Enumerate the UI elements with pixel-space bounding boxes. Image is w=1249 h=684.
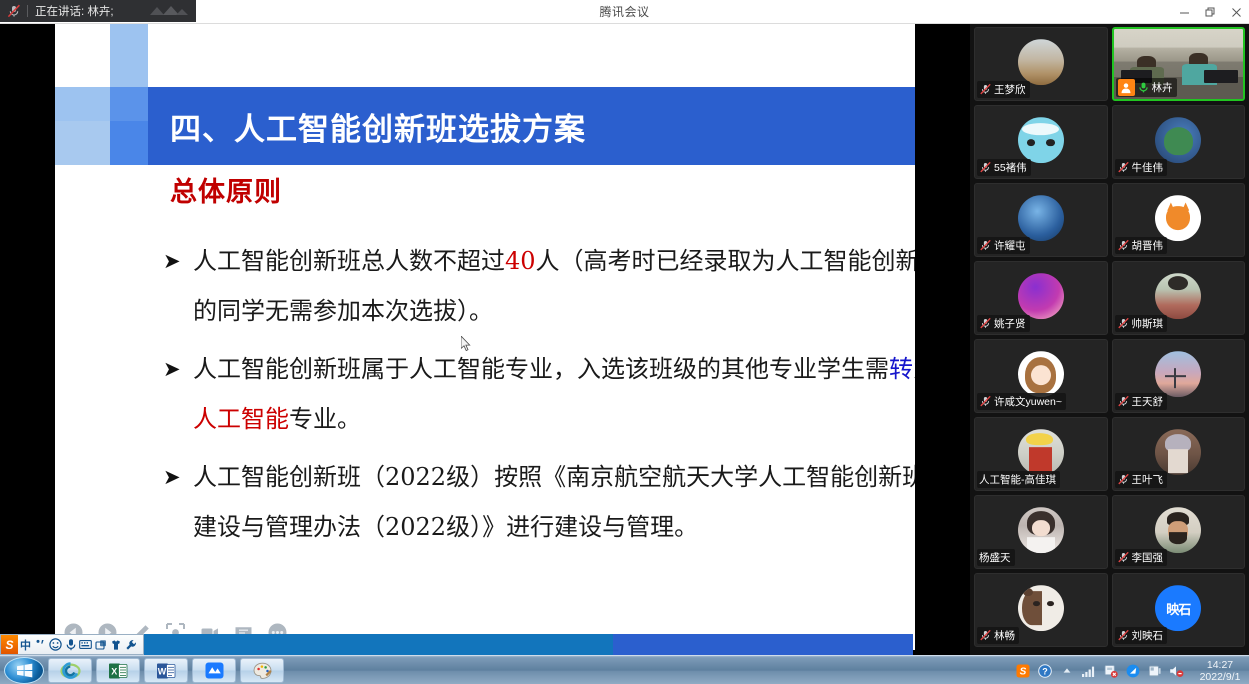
participant-name: 杨盛天	[979, 550, 1011, 565]
ime-skin-button[interactable]	[108, 635, 123, 654]
window-controls	[1171, 0, 1249, 24]
slide-bullet: ➤人工智能创新班（2022级）按照《南京航空航天大学人工智能创新班建设与管理办法…	[155, 452, 915, 552]
participant-name: 许耀屯	[994, 238, 1026, 253]
tray-messenger-icon[interactable]	[1125, 663, 1140, 678]
tray-show-hidden-icons[interactable]	[1059, 663, 1074, 678]
participant-tile[interactable]: 王叶飞	[1112, 417, 1246, 491]
ime-emoji-button[interactable]	[48, 635, 63, 654]
slide-decoration-block	[110, 121, 148, 165]
bullet-marker-icon: ➤	[163, 452, 181, 502]
mic-muted-icon	[979, 317, 992, 330]
participant-nameplate: 王天舒	[1115, 393, 1168, 410]
avatar: 映石	[1155, 585, 1201, 631]
taskbar-item-tencent-meeting[interactable]	[192, 658, 236, 683]
powerpoint-status-strip-secondary	[613, 634, 913, 655]
slide-bullet: ➤人工智能创新班总人数不超过40人（高考时已经录取为人工智能创新班的同学无需参加…	[155, 236, 915, 336]
ime-logo-icon[interactable]: S	[1, 635, 18, 654]
participant-nameplate: 林畅	[977, 627, 1019, 644]
slide-bullet-list: ➤人工智能创新班总人数不超过40人（高考时已经录取为人工智能创新班的同学无需参加…	[155, 236, 915, 560]
ime-toolbox-button[interactable]	[123, 635, 138, 654]
taskbar-clock[interactable]: 14:27 2022/9/1	[1195, 659, 1245, 683]
participant-tile[interactable]: 牛佳伟	[1112, 105, 1246, 179]
participant-tile[interactable]: 姚子贤	[974, 261, 1108, 335]
slide-title: 四、人工智能创新班选拔方案	[170, 87, 910, 165]
participant-nameplate: 人工智能-高佳琪	[977, 471, 1060, 488]
bullet-text-run: 为	[913, 355, 915, 383]
taskbar-item-internet-explorer[interactable]	[48, 658, 92, 683]
bullet-text-run: 转	[889, 355, 913, 383]
avatar	[1018, 507, 1064, 553]
audio-wave-icon	[148, 4, 188, 18]
participant-tile[interactable]: 映石刘映石	[1112, 573, 1246, 647]
mouse-cursor	[461, 336, 472, 352]
bullet-text-run: 40	[505, 247, 536, 275]
slide-decoration-block	[110, 87, 148, 121]
mic-muted-icon	[979, 395, 992, 408]
participant-nameplate: 杨盛天	[977, 549, 1015, 566]
bullet-text-run: 人工智能创新班属于人工智能专业，入选该班级的其他专业学生需	[193, 355, 889, 383]
participant-tile[interactable]: 许咸文yuwen~	[974, 339, 1108, 413]
participant-nameplate: 李国强	[1115, 549, 1168, 566]
participant-nameplate: 许耀屯	[977, 237, 1030, 254]
avatar	[1018, 39, 1064, 85]
minimize-button[interactable]	[1171, 0, 1197, 24]
slide-subtitle: 总体原则	[170, 170, 282, 209]
participant-name: 林卉	[1152, 80, 1173, 95]
avatar	[1018, 585, 1064, 631]
taskbar-item-paint[interactable]	[240, 658, 284, 683]
mic-muted-icon	[6, 4, 22, 18]
participant-nameplate: 许咸文yuwen~	[977, 393, 1066, 410]
system-tray[interactable]: S ?	[1015, 656, 1245, 684]
shared-screen-stage: 四、人工智能创新班选拔方案 总体原则 ➤人工智能创新班总人数不超过40人（高考时…	[0, 24, 970, 660]
svg-text:X: X	[111, 666, 117, 676]
participant-name: 55褚伟	[994, 160, 1027, 175]
avatar	[1155, 507, 1201, 553]
active-speaker-label: 正在讲话: 林卉;	[35, 3, 114, 19]
participant-tile[interactable]: 林畅	[974, 573, 1108, 647]
clock-time: 14:27	[1195, 659, 1245, 671]
mic-muted-icon	[1117, 629, 1130, 642]
tray-volume-muted-icon[interactable]	[1169, 663, 1184, 678]
mic-muted-icon	[979, 83, 992, 96]
participant-tile[interactable]: 帅斯琪	[1112, 261, 1246, 335]
avatar	[1155, 351, 1201, 397]
participant-tile[interactable]: 杨盛天	[974, 495, 1108, 569]
participant-tile[interactable]: 林卉	[1112, 27, 1246, 101]
bullet-marker-icon: ➤	[163, 344, 181, 394]
powerpoint-status-strip	[144, 634, 613, 655]
bullet-text-run: 人工智能创新班（2022级）按照《南京航空航天大学人工智能创新班建设与管理办法（…	[193, 463, 915, 541]
participant-nameplate: 王叶飞	[1115, 471, 1168, 488]
avatar	[1155, 117, 1201, 163]
participant-nameplate: 姚子贤	[977, 315, 1030, 332]
participant-name: 王天舒	[1132, 394, 1164, 409]
svg-text:W: W	[158, 666, 167, 676]
mic-muted-icon	[979, 629, 992, 642]
participant-tile[interactable]: 55褚伟	[974, 105, 1108, 179]
ime-voice-input-button[interactable]	[63, 635, 78, 654]
avatar	[1018, 273, 1064, 319]
participant-grid: 王梦欣林卉55褚伟牛佳伟许耀屯胡晋伟姚子贤帅斯琪许咸文yuwen~王天舒人工智能…	[974, 27, 1245, 647]
mic-muted-icon	[1117, 239, 1130, 252]
sogou-ime-toolbar[interactable]: S 中	[0, 634, 144, 655]
bullet-text-run: 人工智能	[193, 405, 289, 433]
taskbar-item-word[interactable]: W	[144, 658, 188, 683]
avatar	[1155, 273, 1201, 319]
participant-name: 帅斯琪	[1132, 316, 1164, 331]
mic-muted-icon	[1117, 395, 1130, 408]
presentation-slide[interactable]: 四、人工智能创新班选拔方案 总体原则 ➤人工智能创新班总人数不超过40人（高考时…	[55, 24, 915, 650]
taskbar-item-excel[interactable]: X	[96, 658, 140, 683]
participant-name: 李国强	[1132, 550, 1164, 565]
mic-muted-icon	[979, 161, 992, 174]
restore-button[interactable]	[1197, 0, 1223, 24]
close-button[interactable]	[1223, 0, 1249, 24]
slide-decoration-block	[55, 121, 110, 165]
participant-nameplate: 王梦欣	[977, 81, 1030, 98]
participant-tile[interactable]: 许耀屯	[974, 183, 1108, 257]
participant-tile[interactable]: 王天舒	[1112, 339, 1246, 413]
participant-name: 刘映石	[1132, 628, 1164, 643]
svg-text:S: S	[1019, 666, 1026, 677]
clock-date: 2022/9/1	[1195, 671, 1245, 683]
participant-nameplate: 帅斯琪	[1115, 315, 1168, 332]
participant-name: 王梦欣	[994, 82, 1026, 97]
avatar	[1018, 195, 1064, 241]
svg-text:?: ?	[1042, 666, 1048, 676]
participant-nameplate: 牛佳伟	[1115, 159, 1168, 176]
mic-muted-icon	[1117, 161, 1130, 174]
participant-name: 林畅	[994, 628, 1015, 643]
participant-tile[interactable]: 胡晋伟	[1112, 183, 1246, 257]
tray-network-signal-icon[interactable]	[1081, 663, 1096, 678]
avatar	[1018, 351, 1064, 397]
participant-video-panel[interactable]: 王梦欣林卉55褚伟牛佳伟许耀屯胡晋伟姚子贤帅斯琪许咸文yuwen~王天舒人工智能…	[970, 24, 1249, 660]
ime-soft-keyboard-button[interactable]	[78, 635, 93, 654]
participant-name: 牛佳伟	[1132, 160, 1164, 175]
participant-tile[interactable]: 李国强	[1112, 495, 1246, 569]
avatar	[1018, 429, 1064, 475]
avatar	[1155, 195, 1201, 241]
speaker-divider	[27, 5, 28, 17]
mic-on-icon	[1137, 81, 1150, 94]
host-badge-icon	[1118, 79, 1135, 96]
ime-language-mode[interactable]: 中	[18, 635, 33, 654]
participant-name: 王叶飞	[1132, 472, 1164, 487]
mic-muted-icon	[1117, 473, 1130, 486]
avatar	[1155, 429, 1201, 475]
bullet-marker-icon: ➤	[163, 236, 181, 286]
tray-sogou-icon[interactable]: S	[1015, 663, 1030, 678]
avatar	[1018, 117, 1064, 163]
mic-muted-icon	[1117, 317, 1130, 330]
ime-punctuation-toggle[interactable]	[33, 635, 48, 654]
mic-muted-icon	[979, 239, 992, 252]
participant-nameplate: 55褚伟	[977, 159, 1031, 176]
tray-help-icon[interactable]: ?	[1037, 663, 1052, 678]
participant-nameplate: 胡晋伟	[1115, 237, 1168, 254]
slide-bullet: ➤人工智能创新班属于人工智能专业，入选该班级的其他专业学生需转为人工智能专业。	[155, 344, 915, 444]
bullet-text-run: 专业。	[289, 405, 361, 433]
participant-nameplate: 刘映石	[1115, 627, 1168, 644]
bullet-text-run: 人工智能创新班总人数不超过	[193, 247, 505, 275]
mic-muted-icon	[1117, 551, 1130, 564]
participant-name: 胡晋伟	[1132, 238, 1164, 253]
participant-name: 人工智能-高佳琪	[979, 472, 1056, 487]
window-title: 腾讯会议	[599, 3, 649, 20]
participant-tile[interactable]: 人工智能-高佳琪	[974, 417, 1108, 491]
tray-flag-alert-icon[interactable]	[1103, 663, 1118, 678]
windows-taskbar[interactable]: X W	[0, 655, 1249, 684]
start-button[interactable]	[4, 657, 44, 684]
participant-tile[interactable]: 王梦欣	[974, 27, 1108, 101]
participant-name: 姚子贤	[994, 316, 1026, 331]
taskbar-items: X W	[48, 658, 284, 683]
participant-name: 许咸文yuwen~	[994, 394, 1062, 409]
ime-screenshot-button[interactable]	[93, 635, 108, 654]
active-speaker-indicator[interactable]: 正在讲话: 林卉;	[0, 0, 196, 22]
tray-battery-icon[interactable]	[1147, 663, 1162, 678]
participant-nameplate: 林卉	[1116, 78, 1177, 97]
